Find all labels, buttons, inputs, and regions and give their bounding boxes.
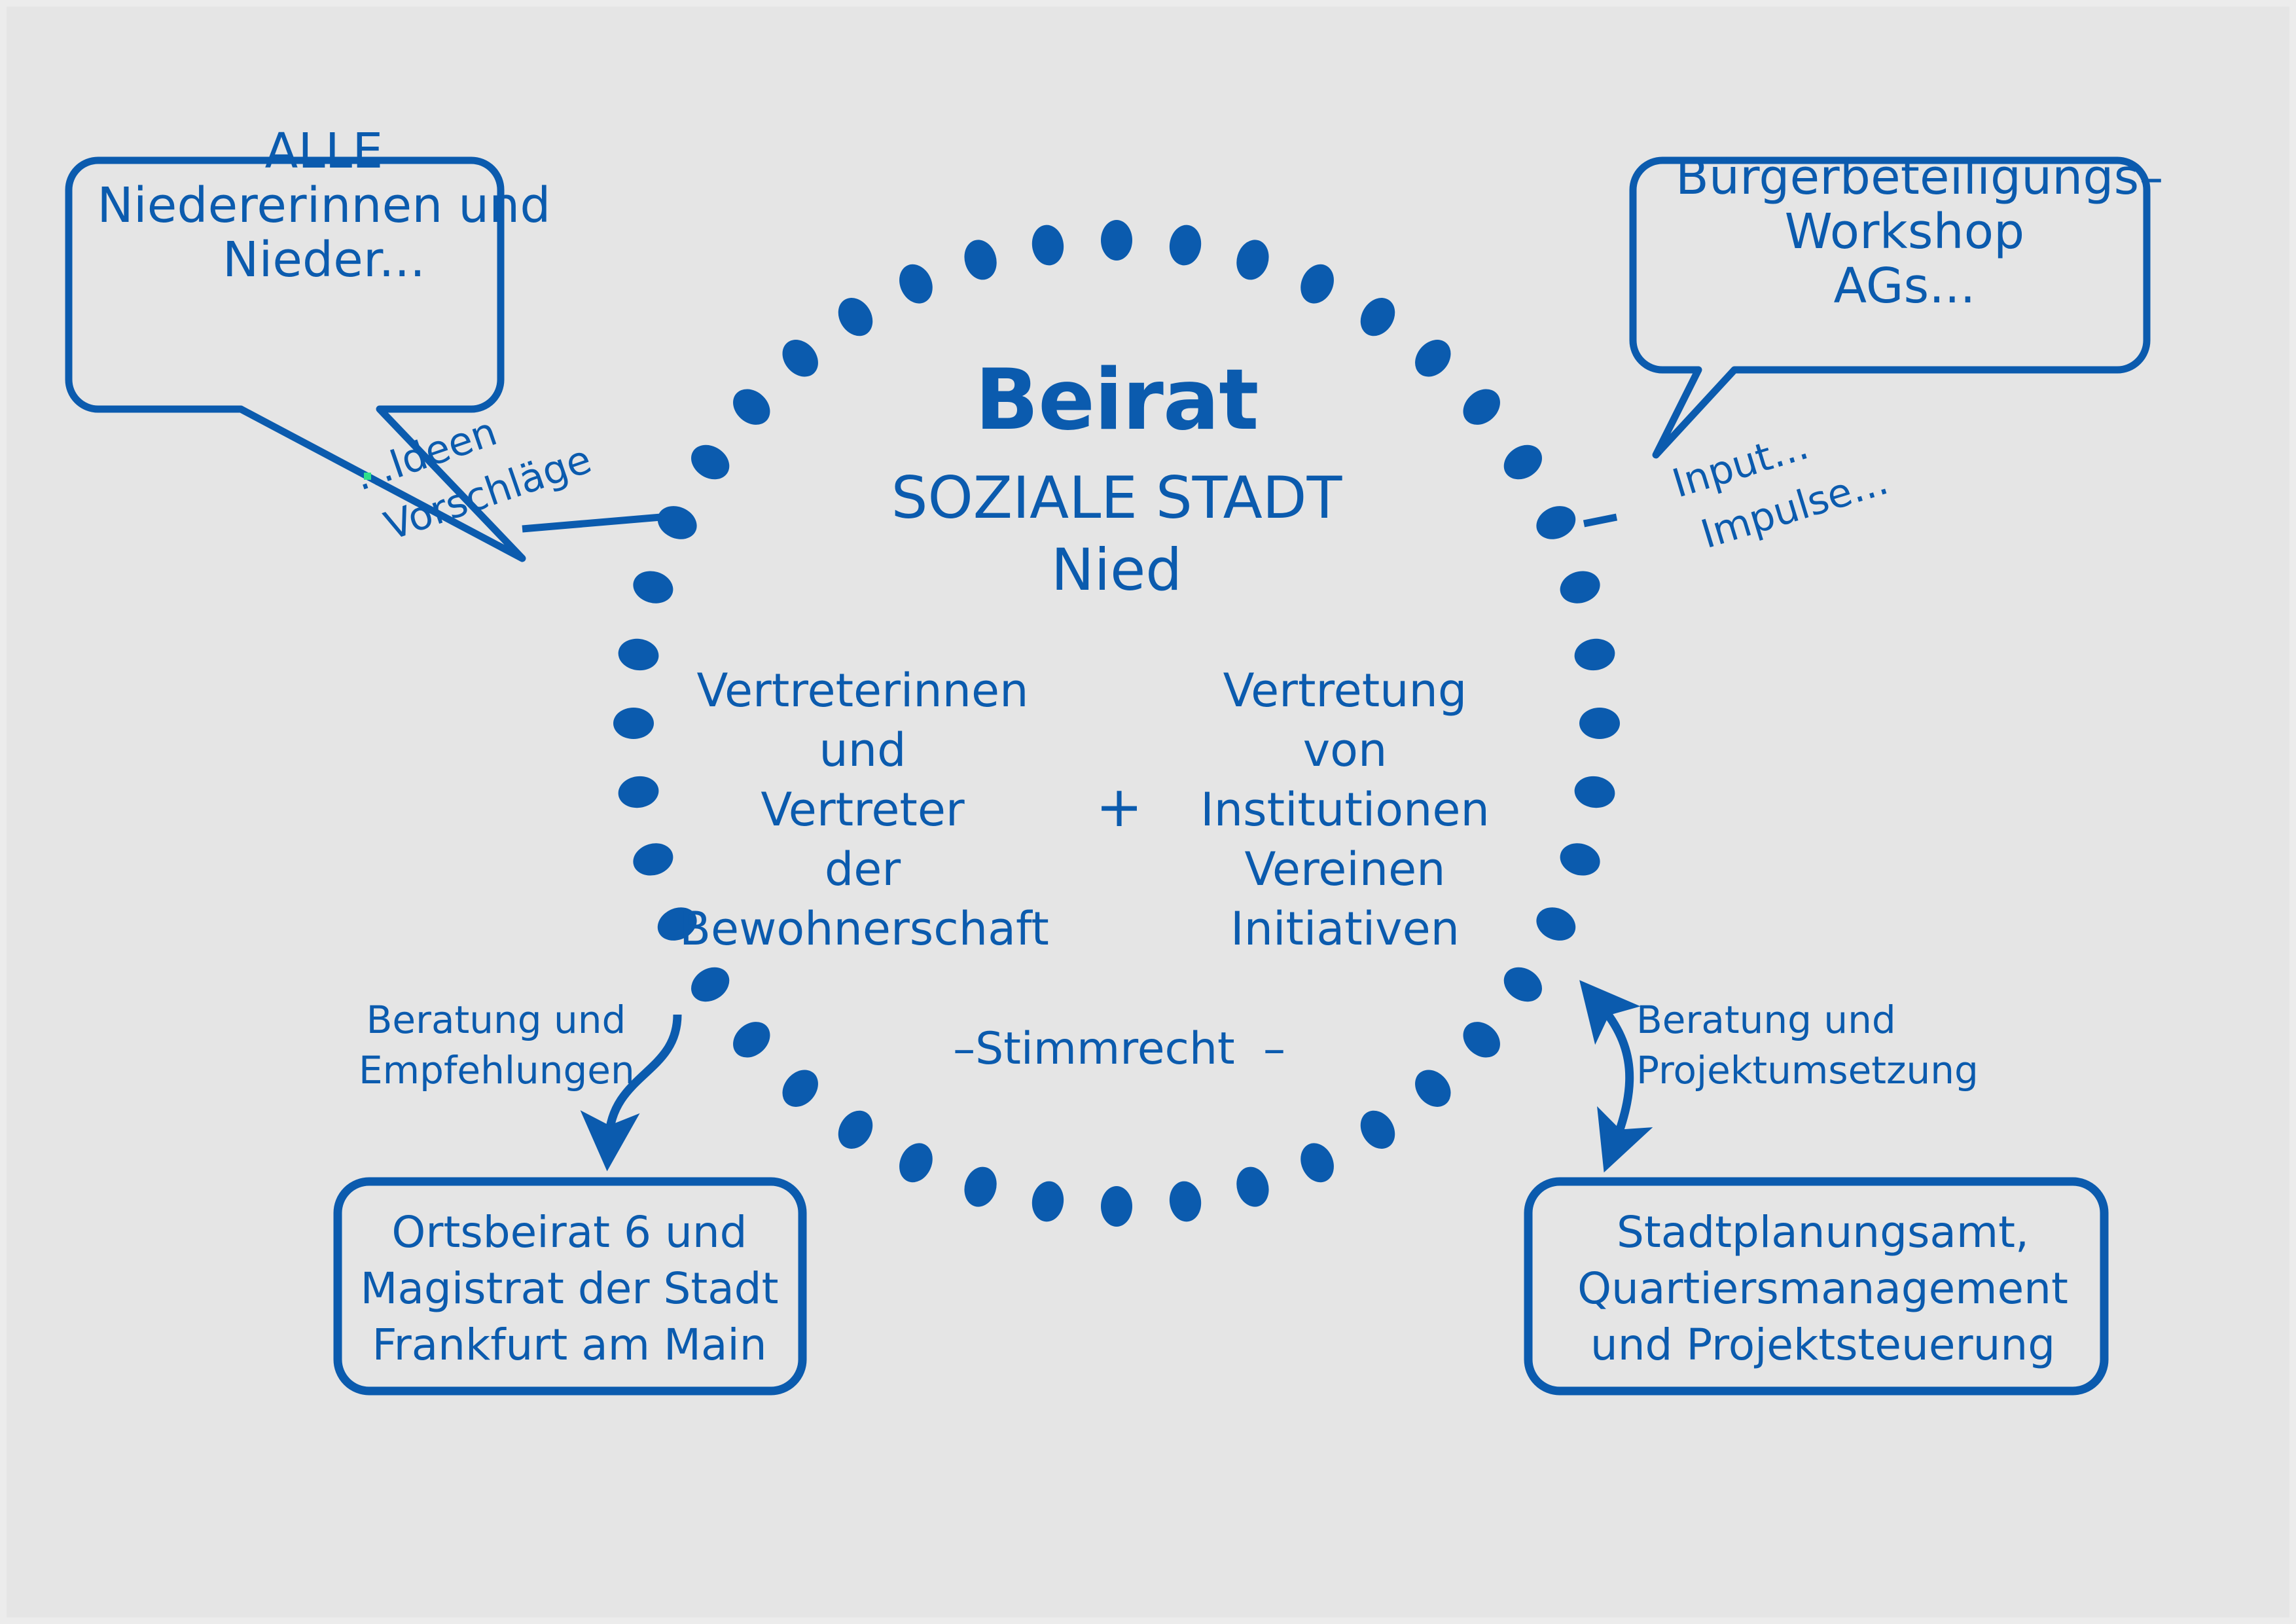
circle-dot: [653, 500, 702, 545]
circle-dot: [960, 236, 1001, 283]
circle-dot: [1556, 839, 1604, 880]
circle-dot: [1498, 960, 1549, 1009]
circle-subtitle-line1: SOZIALE STADT: [789, 466, 1444, 531]
circle-dot: [1101, 1186, 1132, 1227]
circle-dot: [893, 1138, 939, 1187]
speech-bubble-right-label: Bürgerbeteiligungs– Workshop AGs...: [1676, 151, 2134, 314]
circle-dot: [1354, 291, 1402, 342]
circle-dot: [1167, 1179, 1204, 1223]
annotation-beratung-empfehlungen: Beratung und Empfehlungen: [359, 995, 634, 1095]
circle-dot: [1579, 708, 1620, 739]
circle-dot: [726, 1015, 777, 1065]
green-marker-dot: [364, 473, 371, 480]
circle-dot: [1030, 1179, 1066, 1223]
circle-column-institutions: Vertretung von Institutionen Vereinen In…: [1188, 661, 1502, 959]
circle-dot: [1101, 220, 1132, 261]
circle-dot: [1531, 500, 1581, 545]
page-title: Beirat: [789, 353, 1444, 447]
circle-dot: [831, 1104, 880, 1155]
circle-dot: [1295, 259, 1340, 309]
circle-dot: [1295, 1138, 1340, 1187]
circle-dot: [1456, 382, 1507, 432]
circle-dot: [1498, 438, 1549, 486]
circle-dot: [1572, 774, 1617, 810]
circle-dot: [1408, 1063, 1458, 1114]
circle-column-residents: Vertreterinnen und Vertreter der Bewohne…: [679, 661, 1046, 959]
circle-dot: [685, 960, 736, 1009]
circle-dot: [1531, 901, 1581, 947]
box-ortsbeirat-label: Ortsbeirat 6 und Magistrat der Stadt Fra…: [334, 1204, 805, 1373]
speech-bubble-left-label: ALLE Niedererinnen und Nieder...: [92, 124, 556, 287]
annotation-beratung-projektumsetzung: Beratung und Projektumsetzung: [1636, 995, 1964, 1095]
circle-dot: [726, 382, 777, 432]
arrow-right-double: [1600, 1005, 1630, 1142]
circle-dot: [629, 839, 677, 880]
circle-dot: [893, 259, 939, 309]
circle-dot: [616, 774, 660, 810]
circle-dot: [1556, 566, 1604, 608]
circle-dot: [831, 291, 880, 342]
diagram-canvas: ALLE Niedererinnen und Nieder... Bürgerb…: [0, 0, 2296, 1624]
circle-dot: [616, 636, 660, 673]
circle-footer-stimmrecht: –Stimmrecht –: [897, 1024, 1342, 1074]
circle-dot: [960, 1163, 1001, 1211]
circle-dot: [775, 1063, 825, 1114]
circle-dot: [685, 438, 736, 486]
circle-dot: [1572, 636, 1617, 673]
circle-dot: [1030, 223, 1066, 267]
circle-dot: [1456, 1015, 1507, 1065]
circle-dot: [1354, 1104, 1402, 1155]
circle-dot: [613, 708, 654, 739]
circle-subtitle-line2: Nied: [789, 538, 1444, 603]
circle-dot: [1232, 1163, 1274, 1211]
circle-dot: [1232, 236, 1274, 283]
box-stadtplanungsamt-label: Stadtplanungsamt, Quartiersmanagement un…: [1535, 1204, 2111, 1373]
circle-dot: [1167, 223, 1204, 267]
plus-operator: +: [1073, 776, 1165, 839]
circle-dot: [629, 566, 677, 608]
